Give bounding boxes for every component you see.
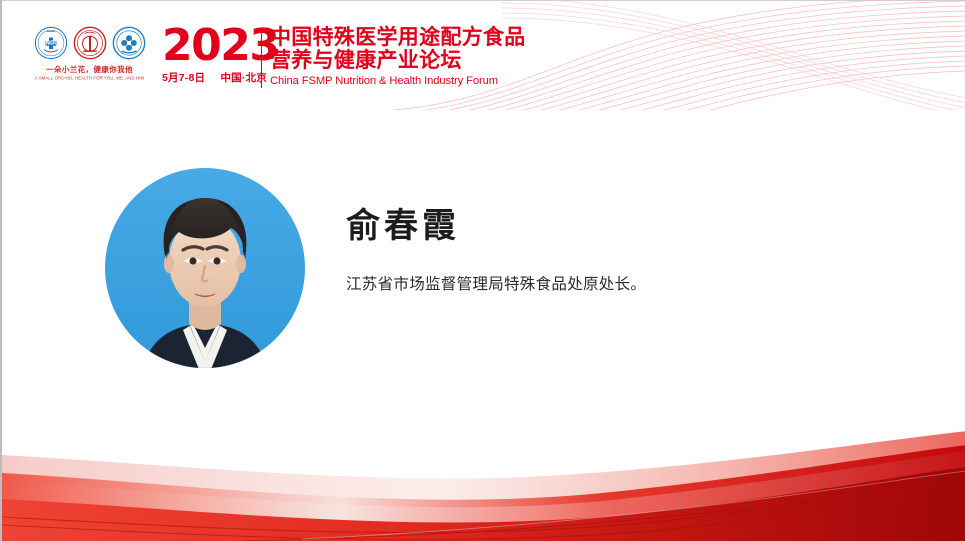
- forum-title-cn-line2: 营养与健康产业论坛: [270, 49, 526, 72]
- red-institute-emblem-icon: [73, 26, 107, 60]
- speaker-portrait: [105, 152, 305, 384]
- forum-title-cn-line1: 中国特殊医学用途配方食品: [270, 26, 526, 49]
- svg-text:CNDIA: CNDIA: [41, 41, 59, 47]
- blue-flower-emblem-icon: [112, 26, 146, 60]
- footer-decorative-waves: [2, 421, 965, 541]
- speaker-info: 俞春霞 江苏省市场监督管理局特殊食品处原处长。: [346, 205, 866, 297]
- organizer-logos: CNDIA ▪▪▪▪▪▪: [32, 26, 147, 80]
- forum-title-block: 中国特殊医学用途配方食品 营养与健康产业论坛 China FSMP Nutrit…: [270, 26, 526, 87]
- slide-body: 俞春霞 江苏省市场监督管理局特殊食品处原处长。: [2, 110, 965, 440]
- header-top-rule: [2, 0, 965, 1]
- speaker-description: 江苏省市场监督管理局特殊食品处原处长。: [346, 273, 866, 297]
- cndia-emblem-icon: CNDIA ▪▪▪▪▪▪: [34, 26, 68, 60]
- speaker-name: 俞春霞: [346, 205, 866, 247]
- portrait-photo: [105, 152, 305, 384]
- event-date: 5月7-8日: [162, 72, 205, 84]
- forum-title-en: China FSMP Nutrition & Health Industry F…: [270, 75, 526, 87]
- header-vertical-divider: [261, 28, 262, 88]
- organizer-logo-row: CNDIA ▪▪▪▪▪▪: [32, 26, 147, 60]
- organizer-tagline-cn: 一朵小兰花，健康你我他: [32, 64, 147, 75]
- slide-header: CNDIA ▪▪▪▪▪▪: [2, 0, 965, 110]
- event-location: 中国·北京: [220, 72, 267, 84]
- organizer-tagline-en: A SMALL ORCHID, HEALTH FOR YOU, ME, AND …: [22, 76, 158, 81]
- speaker-slide: CNDIA ▪▪▪▪▪▪: [0, 0, 965, 541]
